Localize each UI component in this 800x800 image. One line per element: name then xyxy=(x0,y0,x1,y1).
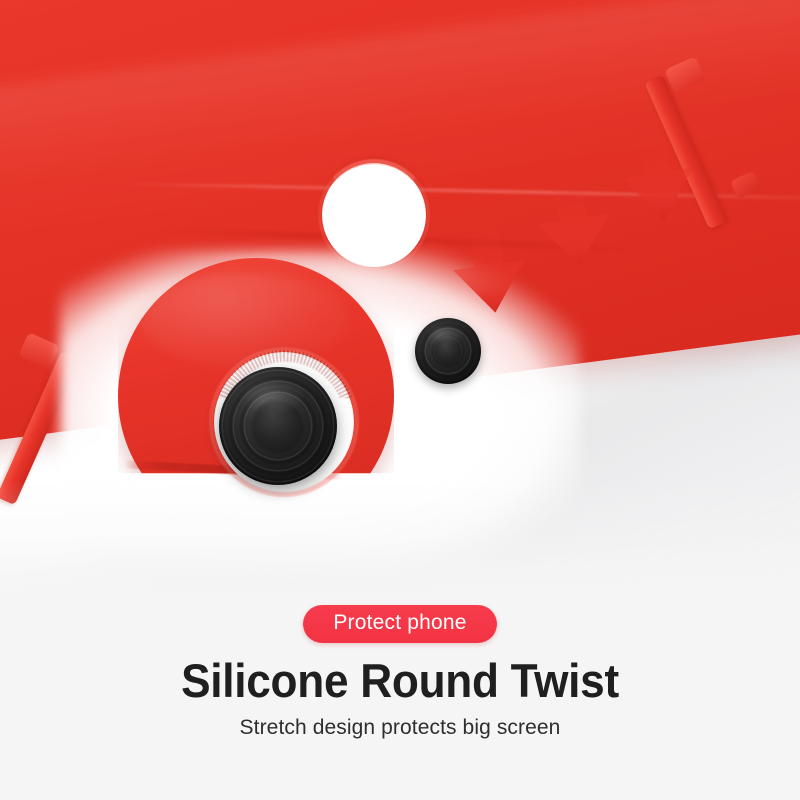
large-rubber-foot xyxy=(219,367,337,485)
arrow-down-3 xyxy=(615,130,700,225)
foot-highlight xyxy=(243,379,304,414)
arrow-down-2 xyxy=(531,166,616,271)
product-marketing-image: Protect phone Silicone Round Twist Stret… xyxy=(0,0,800,800)
photo-bottom-fade xyxy=(0,480,800,600)
page-subtitle: Stretch design protects big screen xyxy=(0,716,800,740)
arrow-down-1 xyxy=(446,213,531,318)
foot-highlight xyxy=(428,325,462,345)
product-photo xyxy=(0,0,800,600)
page-title: Silicone Round Twist xyxy=(24,656,776,705)
twist-disc-sheen xyxy=(140,272,350,368)
small-rubber-foot xyxy=(415,318,481,384)
status-badge: Protect phone xyxy=(303,605,496,643)
press-down-arrows xyxy=(440,130,720,320)
marketing-copy: Protect phone Silicone Round Twist Stret… xyxy=(0,596,800,800)
